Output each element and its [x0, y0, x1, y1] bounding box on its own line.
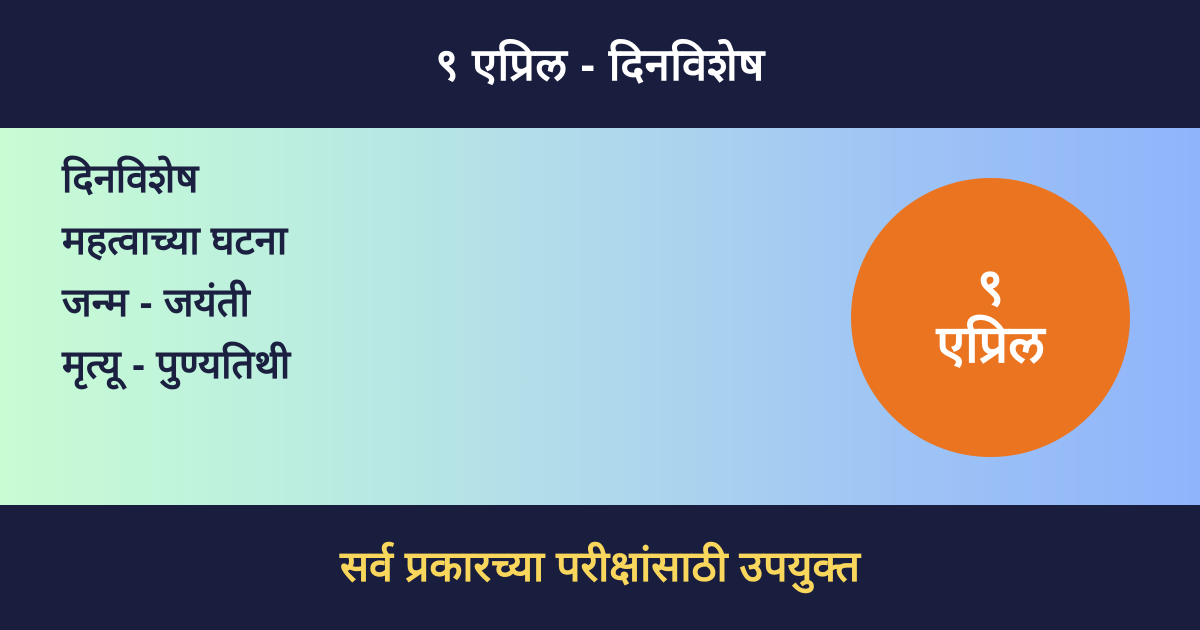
topic-item-important-events: महत्वाच्या घटना — [62, 210, 290, 272]
topic-item-dinvishesh: दिनविशेष — [62, 148, 290, 210]
topic-item-death-anniversary: मृत्यू - पुण्यतिथी — [62, 334, 290, 396]
main-panel: दिनविशेष महत्वाच्या घटना जन्म - जयंती मृ… — [0, 128, 1200, 505]
date-badge-month: एप्रिल — [936, 317, 1044, 374]
footer-tagline: सर्व प्रकारच्या परीक्षांसाठी उपयुक्त — [340, 546, 860, 589]
footer-band: सर्व प्रकारच्या परीक्षांसाठी उपयुक्त — [0, 505, 1200, 630]
date-badge: ९ एप्रिल — [851, 178, 1130, 457]
date-badge-day: ९ — [977, 261, 1004, 316]
dinvishesh-poster: ९ एप्रिल - दिनविशेष दिनविशेष महत्वाच्या … — [0, 0, 1200, 630]
topic-list: दिनविशेष महत्वाच्या घटना जन्म - जयंती मृ… — [62, 148, 290, 396]
page-title: ९ एप्रिल - दिनविशेष — [435, 42, 764, 87]
header-band: ९ एप्रिल - दिनविशेष — [0, 0, 1200, 128]
topic-item-birth-anniversary: जन्म - जयंती — [62, 272, 290, 334]
